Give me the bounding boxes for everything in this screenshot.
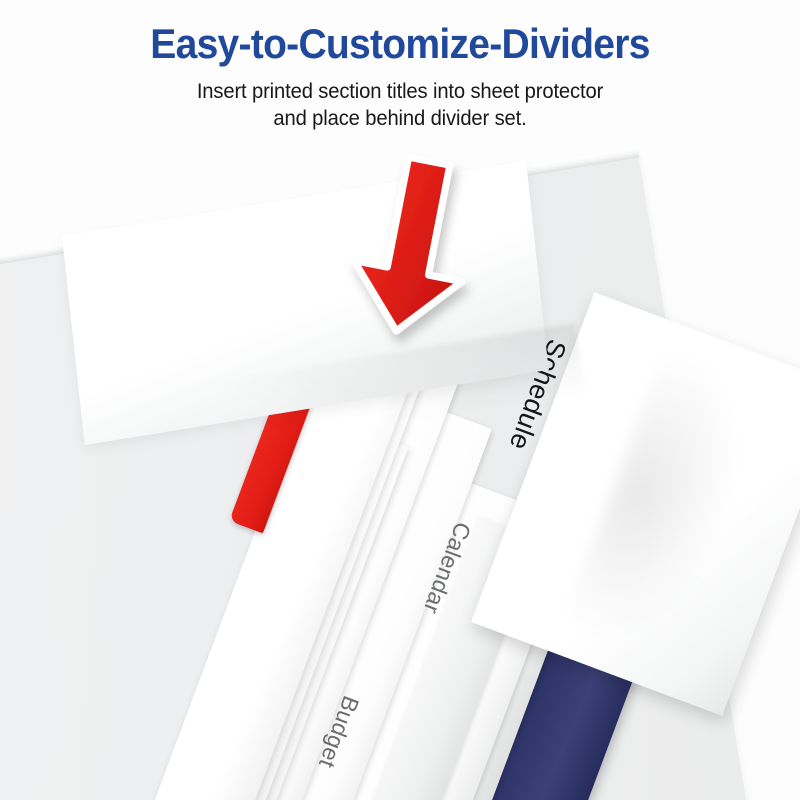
- down-arrow-icon: [330, 152, 480, 337]
- subtitle-line-2: and place behind divider set.: [24, 105, 776, 133]
- callout-arrow: [330, 152, 480, 337]
- page-title: Easy-to-Customize-Dividers: [28, 0, 772, 67]
- subtitle-line-1: Insert printed section titles into sheet…: [24, 78, 776, 106]
- product-feature-image: Easy-to-Customize-Dividers Insert printe…: [0, 0, 800, 800]
- header-block: Easy-to-Customize-Dividers Insert printe…: [0, 0, 800, 133]
- page-subtitle: Insert printed section titles into sheet…: [24, 67, 776, 134]
